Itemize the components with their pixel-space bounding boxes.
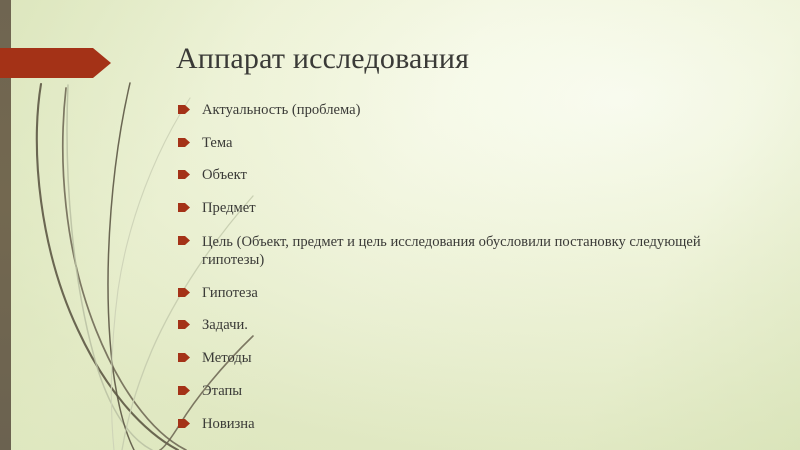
- list-item: Предмет: [176, 200, 721, 217]
- list-item-label: Этапы: [202, 383, 721, 400]
- grass-stem-light-1: [67, 85, 152, 450]
- list-item: Цель (Объект, предмет и цель исследовани…: [176, 233, 721, 270]
- pennant-arrow-bullet-icon: [178, 320, 190, 329]
- pennant-arrow-bullet-icon: [178, 236, 190, 245]
- list-item-label: Гипотеза: [202, 285, 721, 302]
- list-item-label: Новизна: [202, 416, 721, 433]
- arrow-banner-polygon: [0, 48, 111, 78]
- pennant-arrow-bullet-icon: [178, 386, 190, 395]
- pennant-arrow-bullet-icon: [178, 419, 190, 428]
- arrow-banner-shape: [0, 48, 111, 78]
- list-item-label: Цель (Объект, предмет и цель исследовани…: [202, 233, 721, 270]
- presentation-slide: Аппарат исследования Актуальность (пробл…: [0, 0, 800, 450]
- list-item-label: Методы: [202, 350, 721, 367]
- pennant-arrow-bullet-icon: [178, 170, 190, 179]
- list-item-label: Задачи.: [202, 317, 721, 334]
- list-item: Новизна: [176, 416, 721, 433]
- list-item: Методы: [176, 350, 721, 367]
- pennant-arrow-bullet-icon: [178, 138, 190, 147]
- list-item-label: Объект: [202, 167, 721, 184]
- list-item: Гипотеза: [176, 285, 721, 302]
- page-title: Аппарат исследования: [176, 40, 776, 78]
- pennant-arrow-bullet-icon: [178, 288, 190, 297]
- list-item: Этапы: [176, 383, 721, 400]
- list-item: Тема: [176, 135, 721, 152]
- pennant-arrow-bullet-icon: [178, 353, 190, 362]
- pennant-arrow-bullet-icon: [178, 203, 190, 212]
- pennant-arrow-bullet-icon: [178, 105, 190, 114]
- list-item-label: Актуальность (проблема): [202, 102, 721, 119]
- list-item: Актуальность (проблема): [176, 102, 721, 119]
- list-item: Объект: [176, 167, 721, 184]
- bullet-list: Актуальность (проблема) Тема Объект Пред…: [176, 102, 721, 450]
- grass-stem-dark-2: [63, 88, 186, 450]
- list-item-label: Предмет: [202, 200, 721, 217]
- list-item: Задачи.: [176, 317, 721, 334]
- list-item-label: Тема: [202, 135, 721, 152]
